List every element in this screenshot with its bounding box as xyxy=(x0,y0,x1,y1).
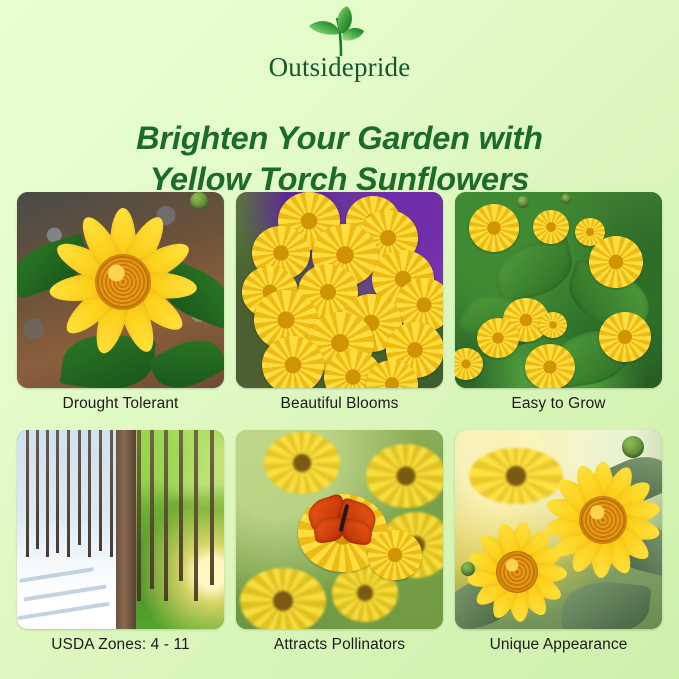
page-title: Brighten Your Garden with Yellow Torch S… xyxy=(0,118,679,201)
feature-caption: Attracts Pollinators xyxy=(236,636,443,654)
feature-caption: Beautiful Blooms xyxy=(236,395,443,413)
bloom xyxy=(262,336,324,388)
feature-grid: Drought Tolerant xyxy=(17,192,662,654)
brand-logo: Outsidepride xyxy=(0,6,679,81)
feature-card-easy-to-grow: Easy to Grow xyxy=(455,192,662,413)
flower-bud xyxy=(517,196,529,208)
butterfly-icon xyxy=(308,496,380,552)
feature-image-drought-tolerant xyxy=(17,192,224,388)
winter-forest-half xyxy=(17,430,125,629)
bloom xyxy=(469,204,519,252)
bloom xyxy=(240,568,326,629)
bloom xyxy=(533,210,569,244)
flower-bud xyxy=(561,194,571,204)
bloom xyxy=(264,432,340,494)
flower-disc xyxy=(579,496,627,544)
feature-card-attracts-pollinators: Attracts Pollinators xyxy=(236,430,443,654)
flower-bud xyxy=(190,192,208,210)
feature-caption: Easy to Grow xyxy=(455,395,662,413)
bloom xyxy=(539,312,567,338)
bloom xyxy=(589,236,643,288)
sunflower-bloom xyxy=(39,198,207,366)
flower-disc xyxy=(496,551,538,593)
bloom xyxy=(599,312,651,362)
feature-caption: USDA Zones: 4 - 11 xyxy=(17,636,224,654)
feature-image-usda-zones xyxy=(17,430,224,629)
sunflower-bloom xyxy=(463,518,571,626)
feature-image-beautiful-blooms xyxy=(236,192,443,388)
flower-bud xyxy=(622,436,644,458)
infographic-poster: Outsidepride Brighten Your Garden with Y… xyxy=(0,0,679,679)
center-tree-trunk xyxy=(116,430,136,629)
feature-caption: Drought Tolerant xyxy=(17,395,224,413)
summer-forest-half xyxy=(125,430,224,629)
feature-caption: Unique Appearance xyxy=(455,636,662,654)
bloom xyxy=(525,344,575,388)
feature-card-beautiful-blooms: Beautiful Blooms xyxy=(236,192,443,413)
feature-image-easy-to-grow xyxy=(455,192,662,388)
feature-image-unique-appearance xyxy=(455,430,662,629)
feature-card-drought-tolerant: Drought Tolerant xyxy=(17,192,224,413)
flower-disc xyxy=(95,254,151,310)
headline-line-1: Brighten Your Garden with xyxy=(0,118,679,160)
bloom xyxy=(477,318,519,358)
feature-card-usda-zones: USDA Zones: 4 - 11 xyxy=(17,430,224,654)
sprout-leaves-icon xyxy=(285,6,395,62)
feature-image-attracts-pollinators xyxy=(236,430,443,629)
feature-card-unique-appearance: Unique Appearance xyxy=(455,430,662,654)
flower-bud xyxy=(461,562,475,576)
